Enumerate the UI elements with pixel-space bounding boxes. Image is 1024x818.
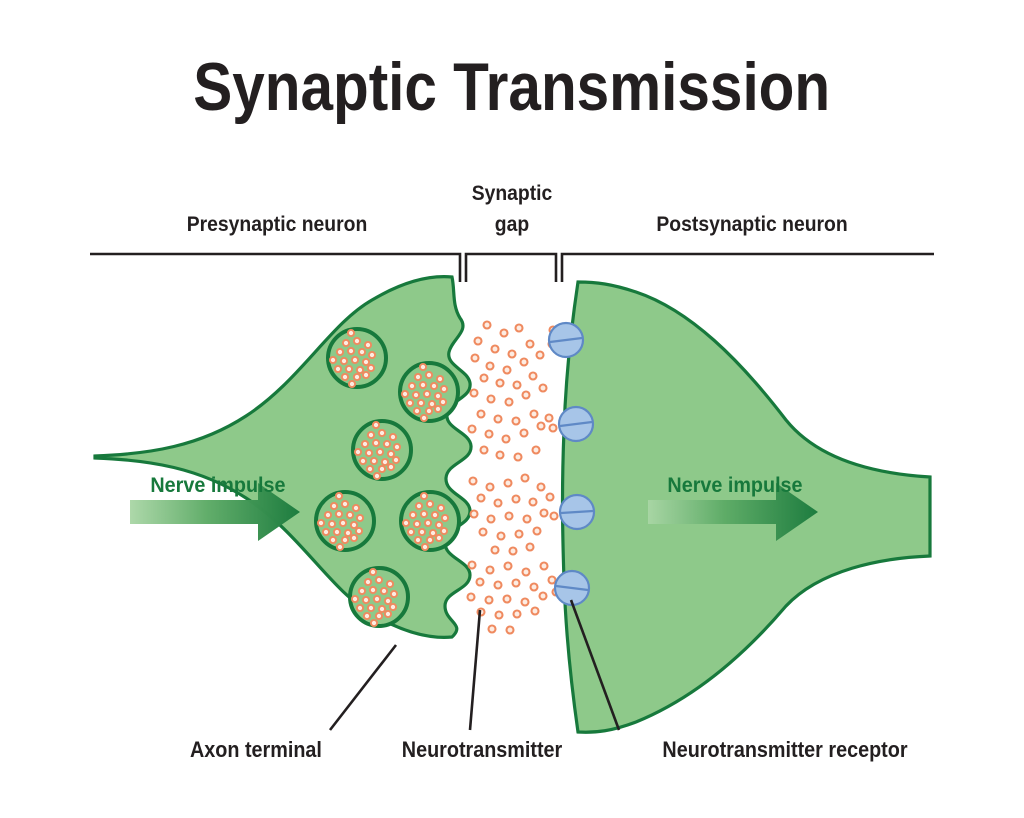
- label-synaptic-gap-line1: Synaptic: [472, 181, 553, 205]
- neurotransmitter-dot: [478, 411, 485, 418]
- vesicle: [316, 492, 374, 550]
- neurotransmitter-receptor: [559, 407, 593, 441]
- neurotransmitter-dot: [547, 494, 554, 501]
- neurotransmitter-dot: [515, 454, 522, 461]
- vesicle: [350, 568, 408, 626]
- neurotransmitter-dot: [513, 496, 520, 503]
- neurotransmitter-dot: [516, 325, 523, 332]
- neurotransmitter-dot: [469, 426, 476, 433]
- bracket-presynaptic: [90, 254, 460, 282]
- neurotransmitter-dot: [532, 608, 539, 615]
- vesicle: [328, 329, 386, 387]
- leader-line-neurotransmitter: [470, 610, 480, 730]
- neurotransmitter-dot: [513, 580, 520, 587]
- neurotransmitter-dot: [469, 562, 476, 569]
- neurotransmitter-dot: [514, 611, 521, 618]
- neurotransmitter-dot: [521, 430, 528, 437]
- neurotransmitter-dot: [480, 529, 487, 536]
- bracket-postsynaptic: [562, 254, 934, 282]
- neurotransmitter-dot: [486, 597, 493, 604]
- neurotransmitter-dot: [504, 367, 511, 374]
- neurotransmitter-dot: [541, 563, 548, 570]
- neurotransmitter-dot: [527, 544, 534, 551]
- neurotransmitter-dot: [468, 594, 475, 601]
- neurotransmitter-dot: [481, 447, 488, 454]
- neurotransmitter-dot: [538, 484, 545, 491]
- label-presynaptic-neuron: Presynaptic neuron: [187, 212, 368, 236]
- neurotransmitter-receptor: [549, 323, 583, 357]
- postsynaptic-neuron: Nerve impulse: [563, 282, 931, 732]
- neurotransmitter-dot: [514, 382, 521, 389]
- neurotransmitter-dot: [471, 511, 478, 518]
- neurotransmitter-group: [468, 322, 560, 634]
- neurotransmitter-dot: [530, 373, 537, 380]
- neurotransmitter-dot: [550, 425, 557, 432]
- neurotransmitter-dot: [478, 495, 485, 502]
- neurotransmitter-dot: [538, 423, 545, 430]
- neurotransmitter-dot: [488, 516, 495, 523]
- neurotransmitter-dot: [495, 416, 502, 423]
- neurotransmitter-dot: [509, 351, 516, 358]
- neurotransmitter-dot: [496, 612, 503, 619]
- neurotransmitter-dot: [534, 528, 541, 535]
- neurotransmitter-dot: [524, 516, 531, 523]
- neurotransmitter-dot: [470, 478, 477, 485]
- neurotransmitter-dot: [546, 415, 553, 422]
- neurotransmitter-dot: [541, 510, 548, 517]
- neurotransmitter-dot: [531, 584, 538, 591]
- neurotransmitter-dot: [522, 599, 529, 606]
- neurotransmitter-dot: [540, 385, 547, 392]
- vesicle: [401, 492, 459, 550]
- neurotransmitter-dot: [497, 452, 504, 459]
- neurotransmitter-dot: [516, 531, 523, 538]
- neurotransmitter-dot: [503, 436, 510, 443]
- presynaptic-membrane: [95, 277, 471, 638]
- neurotransmitter-dot: [488, 396, 495, 403]
- neurotransmitter-dot: [522, 475, 529, 482]
- neurotransmitter-dot: [501, 330, 508, 337]
- neurotransmitter-dot: [523, 569, 530, 576]
- neurotransmitter-dot: [540, 593, 547, 600]
- neurotransmitter-dot: [487, 484, 494, 491]
- neurotransmitter-dot: [530, 499, 537, 506]
- label-neurotransmitter-receptor: Neurotransmitter receptor: [662, 738, 907, 762]
- neurotransmitter-dot: [477, 579, 484, 586]
- neurotransmitter-dot: [551, 513, 558, 520]
- label-nerve-impulse-pre: Nerve impulse: [150, 473, 285, 497]
- vesicle: [400, 363, 458, 421]
- neurotransmitter-dot: [486, 431, 493, 438]
- synaptic-transmission-figure: Synaptic Transmission Presynaptic neuron…: [0, 0, 1024, 818]
- presynaptic-neuron: Nerve impulse: [95, 277, 471, 638]
- neurotransmitter-dot: [505, 563, 512, 570]
- neurotransmitter-dot: [487, 567, 494, 574]
- neurotransmitter-dot: [497, 380, 504, 387]
- neurotransmitter-dot: [506, 513, 513, 520]
- neurotransmitter-dot: [475, 338, 482, 345]
- neurotransmitter-dot: [531, 411, 538, 418]
- neurotransmitter-dot: [527, 341, 534, 348]
- neurotransmitter-dot: [523, 392, 530, 399]
- neurotransmitter-dot: [492, 547, 499, 554]
- neurotransmitter-receptor: [560, 495, 594, 529]
- neurotransmitter-dot: [510, 548, 517, 555]
- neurotransmitter-dot: [507, 627, 514, 634]
- diagram-canvas: Synaptic Transmission Presynaptic neuron…: [0, 0, 1024, 818]
- neurotransmitter-dot: [471, 390, 478, 397]
- label-postsynaptic-neuron: Postsynaptic neuron: [656, 212, 847, 236]
- neurotransmitter-dot: [537, 352, 544, 359]
- neurotransmitter-dot: [504, 596, 511, 603]
- neurotransmitter-dot: [495, 500, 502, 507]
- leader-line-axon-terminal: [330, 645, 396, 730]
- neurotransmitter-dot: [549, 577, 556, 584]
- vesicle: [353, 421, 411, 479]
- neurotransmitter-dot: [489, 626, 496, 633]
- neurotransmitter-dot: [521, 359, 528, 366]
- label-axon-terminal: Axon terminal: [190, 738, 322, 762]
- neurotransmitter-dot: [484, 322, 491, 329]
- neurotransmitter-dot: [506, 399, 513, 406]
- neurotransmitter-dot: [492, 346, 499, 353]
- bracket-synaptic-gap: [466, 254, 556, 282]
- label-nerve-impulse-post: Nerve impulse: [667, 473, 802, 497]
- neurotransmitter-dot: [487, 363, 494, 370]
- neurotransmitter-dot: [505, 480, 512, 487]
- neurotransmitter-dot: [533, 447, 540, 454]
- neurotransmitter-dot: [481, 375, 488, 382]
- label-neurotransmitter: Neurotransmitter: [402, 738, 562, 762]
- label-synaptic-gap-line2: gap: [495, 212, 529, 236]
- neurotransmitter-dot: [472, 355, 479, 362]
- page-title: Synaptic Transmission: [193, 50, 830, 125]
- neurotransmitter-dot: [498, 533, 505, 540]
- neurotransmitter-dot: [513, 418, 520, 425]
- neurotransmitter-dot: [495, 582, 502, 589]
